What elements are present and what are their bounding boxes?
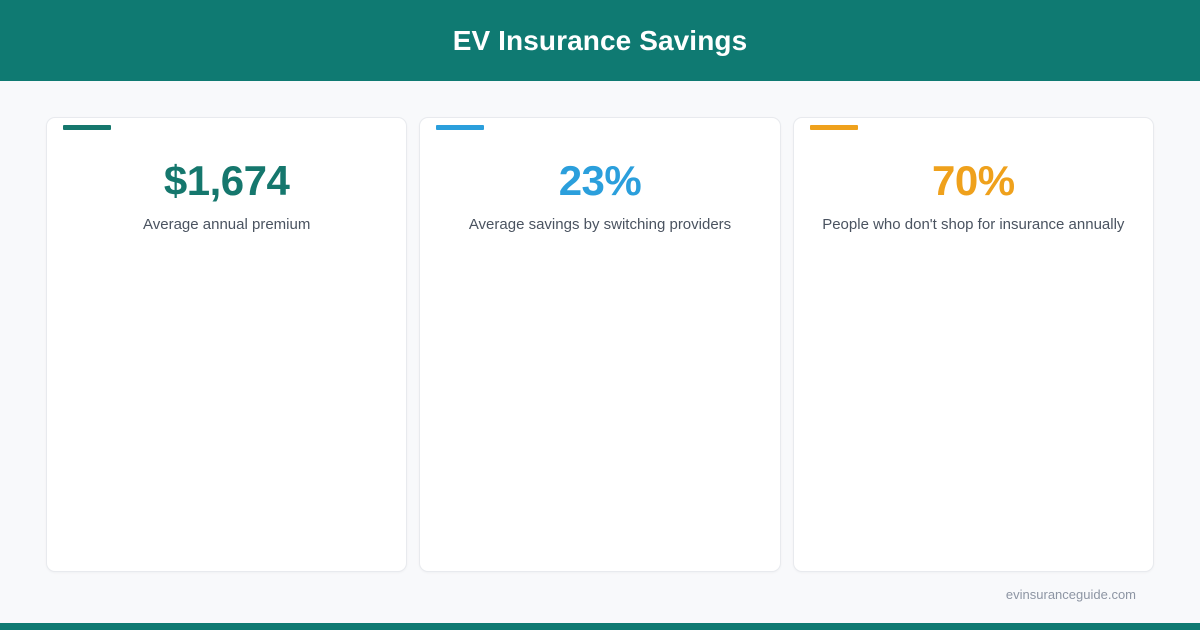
page-header: EV Insurance Savings [0, 0, 1200, 81]
stat-value: 23% [559, 158, 642, 203]
page-title: EV Insurance Savings [453, 27, 748, 55]
stat-value: 70% [932, 158, 1015, 203]
infographic-root: EV Insurance Savings $1,674 Average annu… [0, 0, 1200, 630]
stat-card-people-dont-shop-annually: 70% People who don't shop for insurance … [793, 117, 1154, 572]
bottom-accent-bar [0, 623, 1200, 630]
stat-cards-container: $1,674 Average annual premium 23% Averag… [0, 81, 1200, 572]
stat-label: People who don't shop for insurance annu… [822, 214, 1124, 237]
stat-value: $1,674 [164, 158, 289, 203]
accent-bar-icon [810, 125, 858, 130]
accent-bar-icon [436, 125, 484, 130]
stat-card-average-annual-premium: $1,674 Average annual premium [46, 117, 407, 572]
accent-bar-icon [63, 125, 111, 130]
page-footer: evinsuranceguide.com [0, 572, 1200, 623]
stat-label: Average annual premium [143, 214, 310, 237]
stat-card-average-savings-switching: 23% Average savings by switching provide… [419, 117, 780, 572]
source-attribution: evinsuranceguide.com [1006, 588, 1136, 601]
stat-label: Average savings by switching providers [469, 214, 731, 237]
